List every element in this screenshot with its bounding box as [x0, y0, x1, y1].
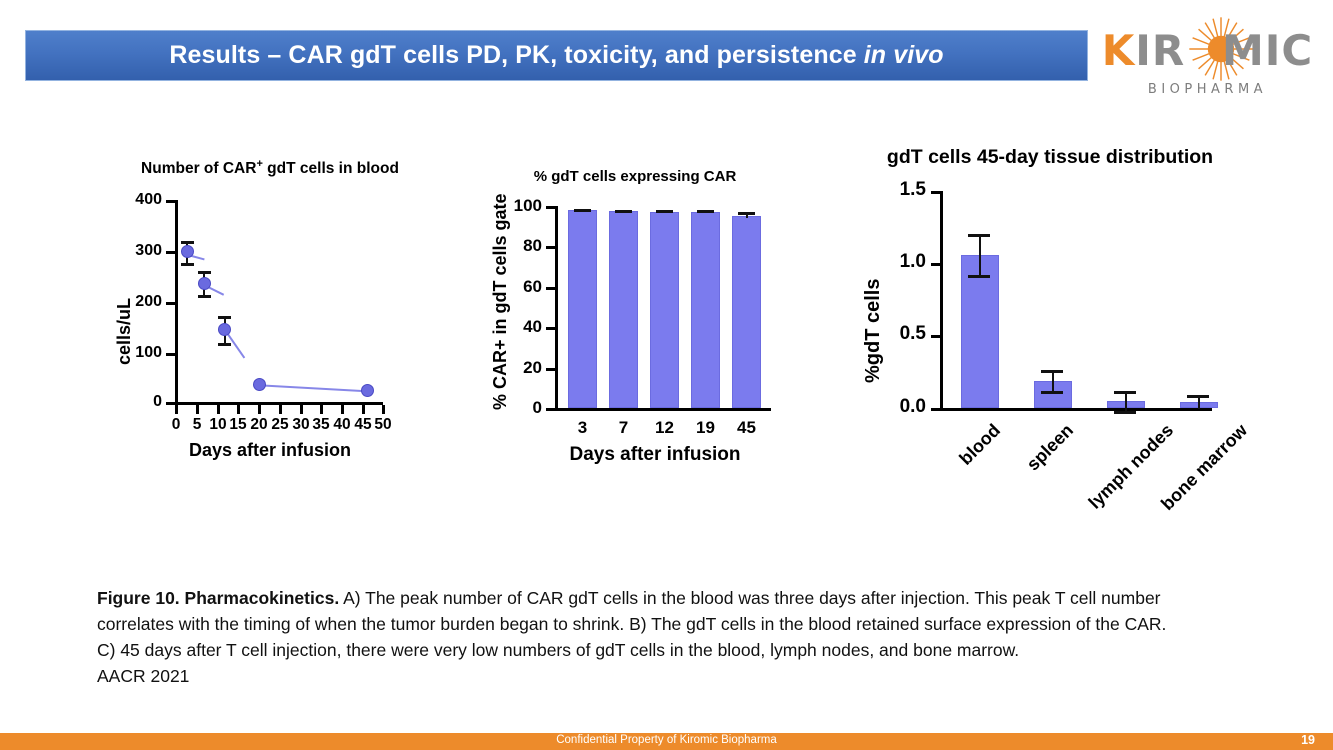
chart-b-error-bar	[746, 212, 748, 218]
chart-a-error-cap	[198, 295, 211, 298]
chart-c-x-tick-label: spleen	[1021, 420, 1078, 477]
chart-a-x-axis-title: Days after infusion	[140, 440, 400, 461]
chart-a-y-tick-label: 300	[122, 242, 162, 260]
chart-b-x-axis	[555, 408, 771, 411]
chart-a-data-point	[253, 378, 266, 391]
chart-a-y-tick	[166, 251, 176, 254]
chart-b-x-axis-title: Days after infusion	[515, 444, 795, 466]
chart-b-error-bar	[582, 209, 584, 212]
chart-b-title: % gdT cells expressing CAR	[470, 168, 800, 185]
caption-bold-lead: Figure 10. Pharmacokinetics.	[97, 588, 339, 608]
chart-a-y-tick	[166, 302, 176, 305]
logo-letters-ir: IR	[1135, 26, 1185, 75]
chart-c-y-tick	[931, 263, 941, 266]
chart-c-error-cap	[1041, 370, 1063, 373]
chart-c-y-tick-label: 1.0	[876, 251, 926, 273]
chart-b-y-tick	[546, 287, 556, 290]
chart-b-bar	[650, 212, 679, 409]
chart-b-error-bar	[705, 210, 707, 213]
logo-subtitle: BIOPHARMA	[1100, 82, 1315, 97]
slide-title-banner: Results – CAR gdT cells PD, PK, toxicity…	[25, 30, 1088, 81]
chart-b-y-tick	[546, 327, 556, 330]
chart-a-y-tick	[166, 200, 176, 203]
chart-panel-c: gdT cells 45-day tissue distribution 1.5…	[830, 138, 1270, 498]
chart-c-y-axis	[940, 191, 943, 411]
chart-a-error-cap	[181, 241, 194, 244]
chart-a-data-point	[198, 277, 211, 290]
chart-a-title-prefix: Number of CAR	[141, 160, 256, 177]
chart-c-error-cap	[968, 234, 990, 237]
chart-a-y-tick-label: 0	[122, 393, 162, 411]
chart-b-y-tick	[546, 408, 556, 411]
chart-a-x-tick	[279, 405, 282, 414]
chart-c-error-bar	[1125, 391, 1127, 411]
footer-bar: Confidential Property of Kiromic Biophar…	[0, 733, 1333, 750]
chart-c-error-bar	[979, 234, 981, 275]
chart-a-x-tick-label: 5	[187, 416, 207, 434]
chart-b-y-axis-title: % CAR+ in gdT cells gate	[490, 193, 511, 410]
chart-a-x-tick	[196, 405, 199, 414]
chart-b-x-tick-label: 3	[568, 418, 597, 438]
chart-c-y-tick-label: 1.5	[876, 179, 926, 201]
chart-a-x-tick	[237, 405, 240, 414]
caption-line-c: C) 45 days after T cell injection, there…	[97, 640, 1019, 660]
chart-a-x-tick-label: 0	[166, 416, 186, 434]
chart-a-x-tick	[320, 405, 323, 414]
chart-a-data-point	[218, 323, 231, 336]
chart-a-error-cap	[218, 316, 231, 319]
footer-page-number: 19	[1301, 733, 1315, 747]
page-title-main: Results – CAR gdT cells PD, PK, toxicity…	[169, 41, 863, 69]
chart-c-y-tick	[931, 335, 941, 338]
chart-b-bar	[691, 212, 720, 409]
chart-a-x-tick	[217, 405, 220, 414]
chart-c-error-cap	[1114, 391, 1136, 394]
caption-source: AACR 2021	[97, 666, 189, 686]
chart-c-x-tick-label: blood	[948, 420, 1005, 477]
chart-b-x-tick-label: 45	[732, 418, 761, 438]
chart-b-y-tick	[546, 206, 556, 209]
chart-c-x-axis	[940, 408, 1212, 411]
chart-a-x-tick	[382, 405, 385, 414]
chart-a-error-cap	[198, 271, 211, 274]
chart-a-title: Number of CAR+ gdT cells in blood	[100, 158, 440, 178]
chart-a-data-point	[181, 245, 194, 258]
chart-b-x-tick-label: 12	[650, 418, 679, 438]
chart-b-bar	[568, 210, 597, 408]
chart-c-error-cap	[968, 275, 990, 278]
page-title: Results – CAR gdT cells PD, PK, toxicity…	[169, 41, 943, 70]
chart-c-error-cap	[1187, 395, 1209, 398]
chart-c-error-cap	[1114, 411, 1136, 414]
chart-a-x-tick	[175, 405, 178, 414]
chart-a-y-tick-label: 400	[122, 191, 162, 209]
chart-panel-b: % gdT cells expressing CAR 100 80 60 40 …	[470, 160, 800, 470]
chart-b-y-tick	[546, 368, 556, 371]
chart-c-y-tick-label: 0.0	[876, 396, 926, 418]
chart-a-x-tick-label: 50	[371, 416, 395, 434]
chart-a-data-point	[361, 384, 374, 397]
chart-c-y-tick	[931, 408, 941, 411]
chart-b-y-axis	[555, 206, 558, 410]
chart-a-x-tick	[341, 405, 344, 414]
chart-b-y-tick	[546, 246, 556, 249]
chart-a-y-axis-title: cells/uL	[114, 298, 135, 365]
logo-wordmark: KIROMIC	[1100, 30, 1315, 72]
chart-a-x-tick	[300, 405, 303, 414]
chart-c-y-tick	[931, 191, 941, 194]
chart-b-x-tick-label: 7	[609, 418, 638, 438]
chart-b-error-bar	[623, 210, 625, 213]
chart-a-x-tick	[362, 405, 365, 414]
chart-c-error-cap	[1041, 391, 1063, 394]
logo-letter-k: K	[1102, 26, 1136, 75]
page-title-italic: in vivo	[864, 41, 944, 69]
chart-a-title-suffix: gdT cells in blood	[263, 160, 399, 177]
chart-b-bar	[609, 211, 638, 408]
chart-b-error-bar	[664, 210, 666, 213]
chart-c-title: gdT cells 45-day tissue distribution	[830, 146, 1270, 169]
chart-b-bar	[732, 216, 761, 408]
footer-confidential-text: Confidential Property of Kiromic Biophar…	[0, 734, 1333, 746]
kiromic-logo: KIROMIC BIOPHARMA	[1100, 14, 1315, 106]
chart-a-error-cap	[218, 343, 231, 346]
figure-caption: Figure 10. Pharmacokinetics. A) The peak…	[97, 585, 1242, 689]
chart-b-x-tick-label: 19	[691, 418, 720, 438]
chart-panel-a: Number of CAR+ gdT cells in blood 400 30…	[100, 150, 440, 470]
chart-a-y-tick	[166, 353, 176, 356]
logo-letters-mic: MIC	[1222, 26, 1313, 75]
chart-a-x-tick	[258, 405, 261, 414]
chart-a-error-cap	[181, 263, 194, 266]
chart-a-line-segment	[254, 384, 362, 392]
chart-c-y-axis-title: %gdT cells	[862, 279, 885, 383]
chart-c-error-bar	[1052, 370, 1054, 390]
